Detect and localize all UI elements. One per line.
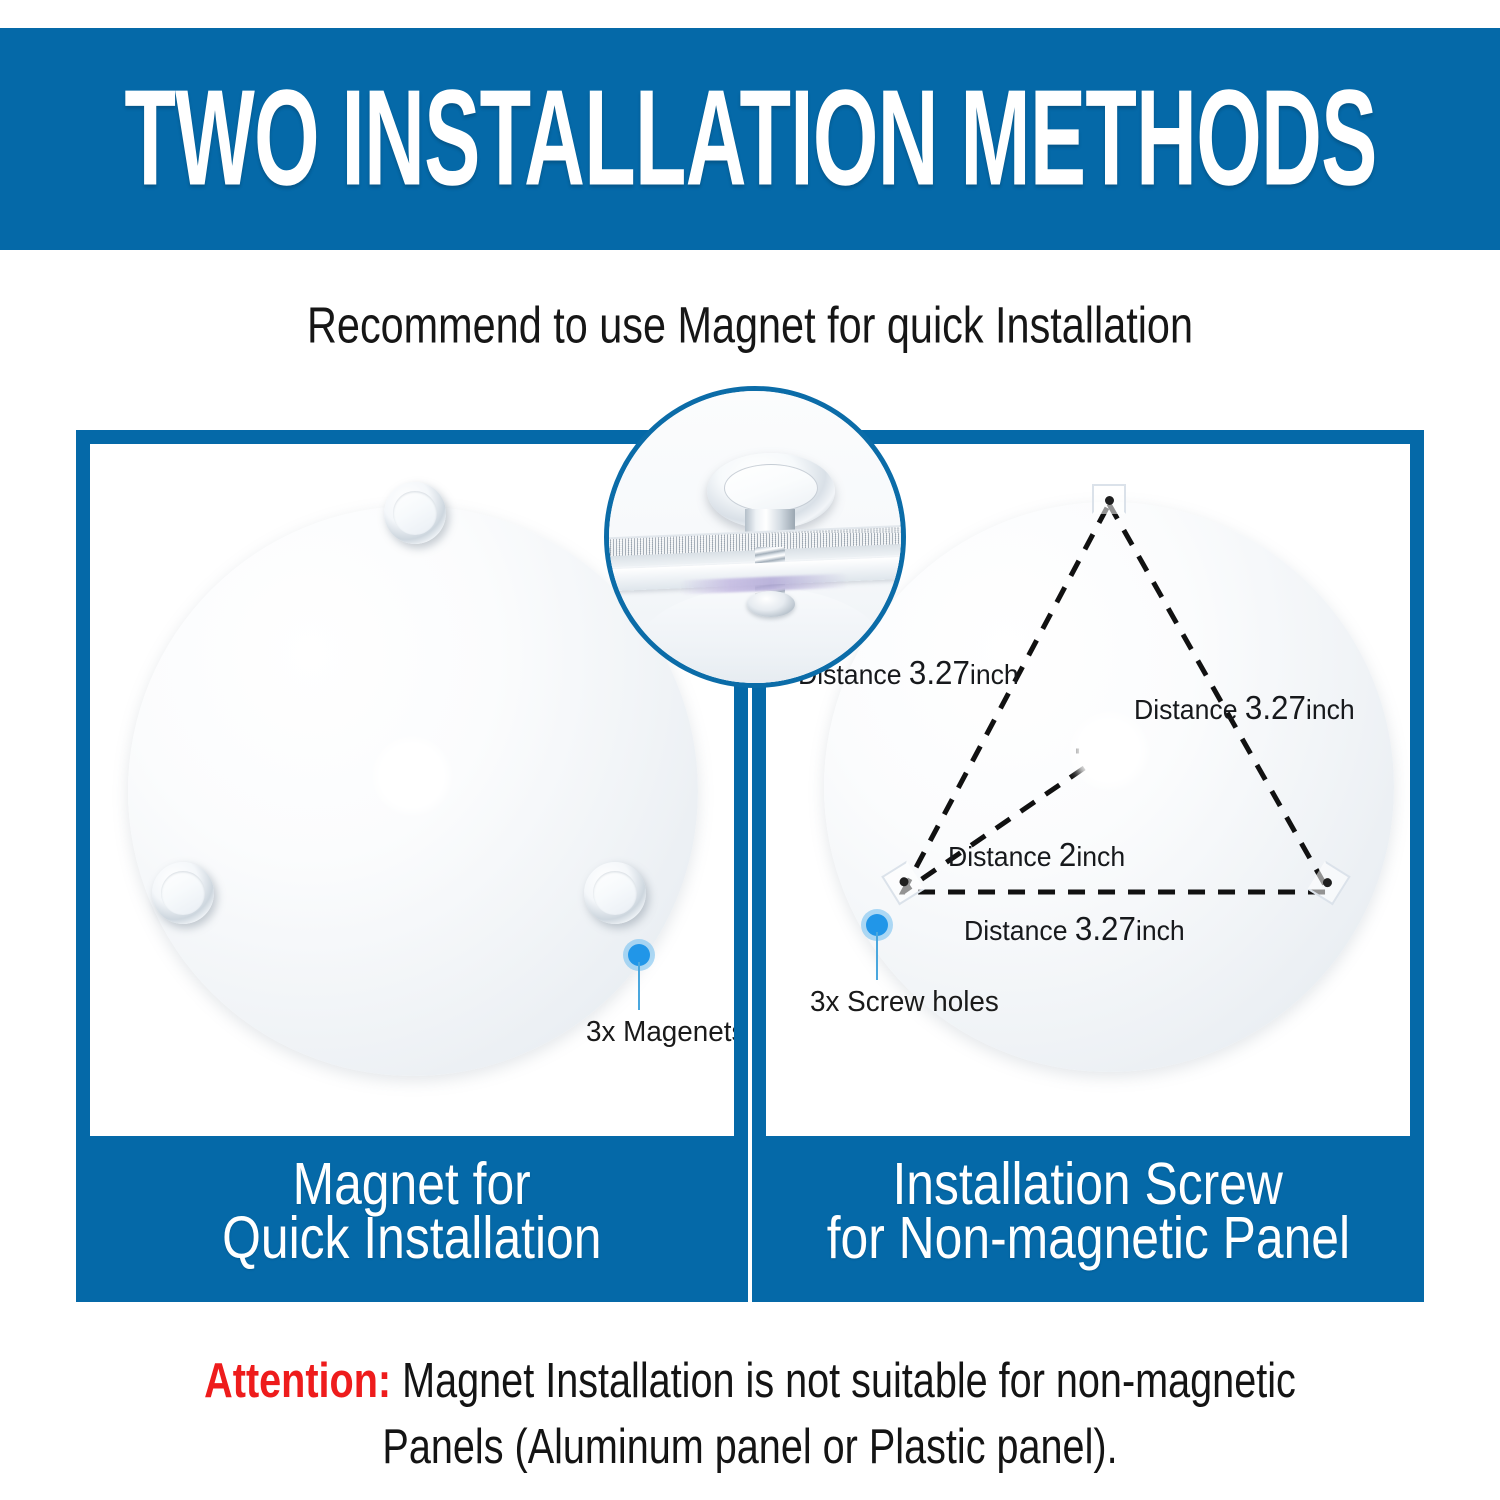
screw-disc-center-hole xyxy=(1079,721,1139,781)
magnet-top xyxy=(384,482,446,544)
panel-magnet-caption: Magnet for Quick Installation xyxy=(90,1136,734,1288)
attention-text-line2: Panels (Aluminum panel or Plastic panel)… xyxy=(382,1419,1117,1474)
dimension-label-bottom: Distance 3.27inch xyxy=(964,910,1185,948)
attention-text-line1: Magnet Installation is not suitable for … xyxy=(402,1353,1296,1408)
page-title: TWO INSTALLATION METHODS xyxy=(124,61,1376,217)
attention-note: Attention: Magnet Installation is not su… xyxy=(0,1352,1500,1470)
callout-magnets-label: 3x Magenets xyxy=(586,1016,734,1049)
dimension-bottom-prefix: Distance xyxy=(964,915,1075,946)
dimension-left-value: 3.27 xyxy=(909,654,970,691)
dimension-center-value: 2 xyxy=(1059,836,1076,873)
dimension-label-center: Distance 2inch xyxy=(948,836,1125,874)
dimension-bottom-unit: inch xyxy=(1136,915,1185,946)
dimension-label-right: Distance 3.27inch xyxy=(1134,689,1355,727)
subtitle-text: Recommend to use Magnet for quick Instal… xyxy=(60,296,1440,355)
header-banner: TWO INSTALLATION METHODS xyxy=(0,28,1500,250)
dimension-right-prefix: Distance xyxy=(1134,694,1245,725)
inset-nut xyxy=(747,591,795,617)
magnet-bottom-right xyxy=(584,862,646,924)
dimension-bottom-value: 3.27 xyxy=(1075,910,1136,947)
callout-screw-holes-label: 3x Screw holes xyxy=(810,986,999,1019)
attention-line-2: Panels (Aluminum panel or Plastic panel)… xyxy=(75,1418,1425,1476)
dimension-right-value: 3.27 xyxy=(1245,689,1306,726)
screw-hole-top xyxy=(1092,484,1126,514)
callout-leader-line xyxy=(876,932,878,980)
panel-screw-caption: Installation Screw for Non-magnetic Pane… xyxy=(766,1136,1410,1288)
magnet-closeup-inset xyxy=(604,386,906,688)
disc-center-hole xyxy=(380,744,444,808)
attention-label: Attention: xyxy=(204,1353,391,1408)
dimension-right-unit: inch xyxy=(1306,694,1355,725)
dimension-left-unit: inch xyxy=(970,659,1019,690)
callout-leader-line xyxy=(638,962,640,1010)
magnet-bottom-left xyxy=(152,862,214,924)
attention-line-1: Attention: Magnet Installation is not su… xyxy=(75,1352,1425,1410)
panel-screw-caption-line2: for Non-magnetic Panel xyxy=(826,1209,1349,1270)
dimension-center-prefix: Distance xyxy=(948,841,1059,872)
panel-magnet-caption-line2: Quick Installation xyxy=(222,1209,601,1270)
dimension-center-unit: inch xyxy=(1076,841,1125,872)
